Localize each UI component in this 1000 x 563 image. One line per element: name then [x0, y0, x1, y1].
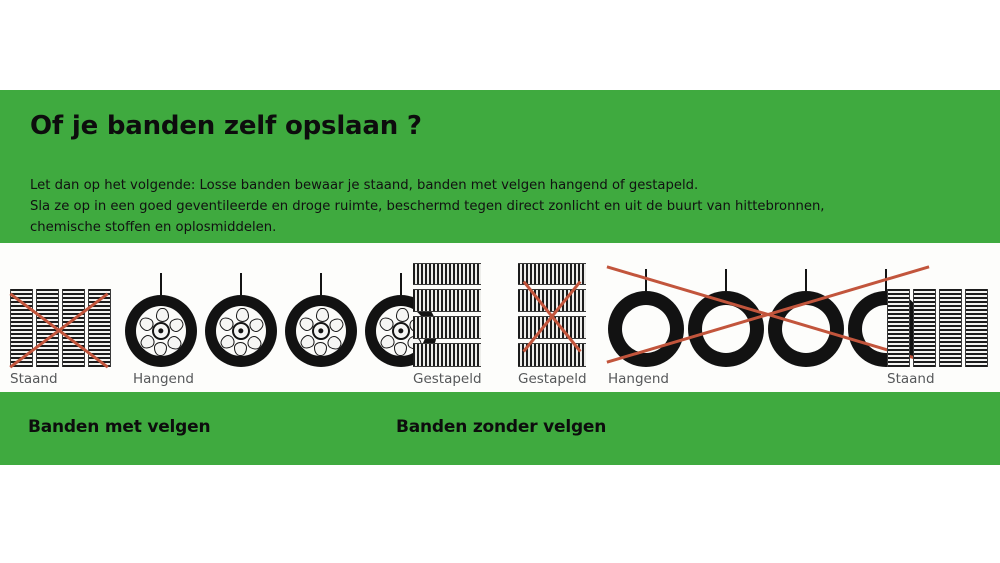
rim-hub [312, 322, 330, 340]
stacked-tread-band [518, 289, 586, 311]
stacked-tread-band [413, 289, 481, 311]
tire-without-rim [688, 291, 764, 367]
wheel-with-rim [285, 295, 357, 367]
group-label: Staand [10, 367, 111, 387]
header-green-band: Of je banden zelf opslaan ? Let dan op h… [0, 90, 1000, 243]
tread-column [88, 289, 111, 367]
footer-green-band: Banden met velgen Banden zonder velgen [0, 392, 1000, 465]
tread-column [10, 289, 33, 367]
wheel-with-rim [205, 295, 277, 367]
stacked-tires-art [518, 263, 587, 367]
illustration-group-zonder-velgen-staand: Staand [887, 289, 988, 387]
hook-icon [885, 269, 888, 291]
hanging-wheel [285, 273, 357, 367]
intro-line-1: Let dan op het volgende: Losse banden be… [30, 175, 970, 196]
rim-spoke [314, 342, 327, 356]
hanging-tire [768, 269, 844, 367]
illustration-group-zonder-velgen-hangend: Hangend [608, 255, 924, 387]
tire-without-rim [768, 291, 844, 367]
wheel-with-rim [125, 295, 197, 367]
intro-line-2: Sla ze op in een goed geventileerde en d… [30, 196, 970, 217]
rim-hub [392, 322, 410, 340]
standing-tires-art [10, 289, 111, 367]
category-label-banden-zonder-velgen: Banden zonder velgen [396, 417, 606, 437]
standing-tread-row [10, 289, 111, 367]
stacked-tread-column [518, 263, 586, 367]
group-label: Gestapeld [518, 367, 587, 387]
hanging-tire [608, 269, 684, 367]
group-label: Hangend [608, 367, 924, 387]
hook-icon [645, 269, 648, 291]
rim-spoke [236, 308, 249, 322]
rim-face [296, 306, 346, 356]
tread-column [887, 289, 910, 367]
stacked-tires-art [413, 263, 482, 367]
stacked-tread-band [518, 316, 586, 338]
intro-line-3: chemische stoffen en oplosmiddelen. [30, 217, 970, 238]
intro-paragraph: Let dan op het volgende: Losse banden be… [30, 141, 970, 239]
group-label: Gestapeld [413, 367, 482, 387]
tread-column [965, 289, 988, 367]
rim-face [216, 306, 266, 356]
hook-icon [725, 269, 728, 291]
stacked-tread-band [413, 343, 481, 366]
tire-inner-hole [702, 305, 750, 353]
stacked-tread-band [413, 263, 481, 285]
standing-tires-art [887, 289, 988, 367]
rim-spoke [396, 308, 409, 322]
tire-inner-hole [622, 305, 670, 353]
hanging-wheel [125, 273, 197, 367]
rim-hub [232, 322, 250, 340]
hook-icon [160, 273, 163, 295]
tire-inner-hole [782, 305, 830, 353]
rim-face [136, 306, 186, 356]
hook-icon [805, 269, 808, 291]
illustration-group-zonder-velgen-gestapeld: Gestapeld [518, 263, 587, 387]
illustration-group-met-velgen-hangend: Hangend [125, 257, 437, 387]
illustration-group-met-velgen-gestapeld: Gestapeld [413, 263, 482, 387]
hook-icon [400, 273, 403, 295]
illustration-strip: Staand [0, 243, 1000, 392]
illustration-group-met-velgen-staand: Staand [10, 289, 111, 387]
hanging-wheel [205, 273, 277, 367]
group-label: Hangend [125, 367, 437, 387]
group-label: Staand [887, 367, 988, 387]
stacked-tread-band [518, 343, 586, 366]
infographic-page: Of je banden zelf opslaan ? Let dan op h… [0, 0, 1000, 563]
tread-column [36, 289, 59, 367]
tread-column [913, 289, 936, 367]
tread-column [62, 289, 85, 367]
page-title: Of je banden zelf opslaan ? [30, 112, 970, 141]
stacked-tread-band [518, 263, 586, 285]
hook-icon [240, 273, 243, 295]
rim-spoke [234, 342, 247, 356]
stacked-tread-column [413, 263, 481, 367]
standing-tread-row [887, 289, 988, 367]
hanging-wheels-with-rim-art [125, 257, 437, 367]
hook-icon [320, 273, 323, 295]
hanging-tire [688, 269, 764, 367]
rim-hub [152, 322, 170, 340]
stacked-tread-band [413, 316, 481, 338]
hanging-tires-no-rim-art [608, 255, 924, 367]
tire-without-rim [608, 291, 684, 367]
rim-spoke [154, 342, 167, 356]
rim-spoke [156, 308, 169, 322]
tread-column [939, 289, 962, 367]
rim-spoke [316, 308, 329, 322]
category-label-banden-met-velgen: Banden met velgen [28, 417, 210, 437]
rim-spoke [394, 342, 407, 356]
